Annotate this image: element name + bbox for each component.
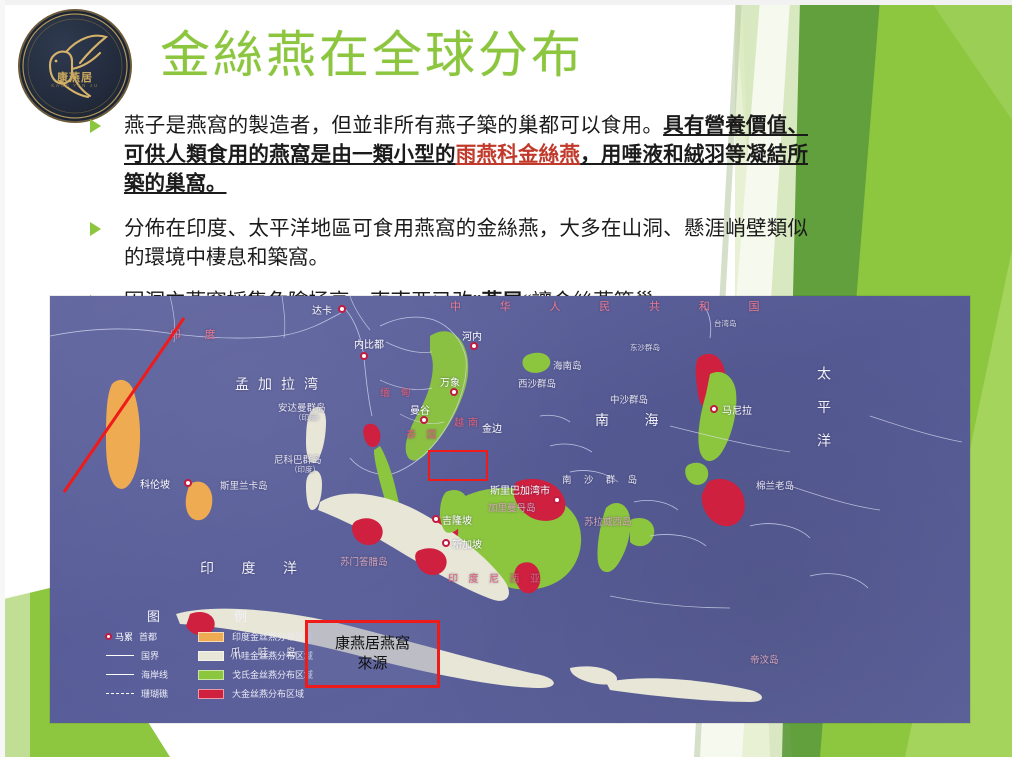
color-swatch-icon: [196, 689, 226, 699]
capital-dot-hanoi: [470, 342, 478, 350]
legend-label-germain-swiftlet: 戈氏金丝燕分布区域: [232, 668, 313, 681]
island-label-kalimantan: 加里曼丹岛: [488, 500, 536, 514]
legend-swatch-column: 印度金丝燕分布区域 爪哇金丝燕分布区域 戈氏金丝燕分布区域 大金丝燕分布区域: [196, 629, 313, 701]
legend-item-coastline: 海岸线: [105, 667, 168, 682]
country-label-india: 印 度: [170, 326, 222, 342]
legend-item-edible-nest-swiftlet: 大金丝燕分布区域: [196, 686, 313, 701]
capital-dot-vientiane: [450, 388, 458, 396]
legend-item-capital: 马累 首都: [105, 629, 168, 644]
slide-border-left: [0, 0, 5, 757]
legend-item-indian-swiftlet: 印度金丝燕分布区域: [196, 629, 313, 644]
ocean-label-bay-of-bengal: 孟加拉湾: [235, 374, 327, 394]
island-label-hainan: 海南岛: [553, 358, 582, 372]
page-title: 金絲燕在全球分布: [160, 28, 584, 83]
color-swatch-icon: [196, 670, 226, 680]
country-label-myanmar: 缅 甸: [380, 384, 415, 399]
solid-line-icon: [105, 674, 135, 675]
legend-item-java-swiftlet: 爪哇金丝燕分布区域: [196, 648, 313, 663]
distribution-map: .land-green { fill:#8cc63e; } .land-red …: [50, 296, 970, 723]
bullet-item-2: 分佈在印度、太平洋地區可食用燕窩的金絲燕，大多在山洞、懸涯峭壁類似的環境中棲息和…: [86, 215, 808, 273]
island-label-zhongsha: 中沙群岛: [610, 392, 648, 406]
city-label-naypyidaw: 内比都: [354, 336, 384, 351]
island-sub-andaman: （印度）: [294, 412, 324, 423]
legend-headings: 图 例: [105, 606, 325, 625]
city-label-vientiane: 万象: [440, 374, 460, 389]
country-label-china: 中 华 人 民 共 和 国: [450, 298, 778, 314]
slide: 康燕居 KANG YAN JU 金絲燕在全球分布 燕子是燕窩的製造者，但並非所有…: [0, 0, 1012, 757]
island-sub-nicobar: （印度）: [290, 464, 320, 475]
bullet-1-seg-3: 雨燕科金絲燕: [456, 144, 580, 166]
ocean-label-south-china-sea: 南 海: [595, 410, 675, 430]
island-label-mindanao: 棉兰老岛: [756, 478, 794, 492]
legend-item-border: 国界: [105, 648, 168, 663]
city-label-bandar-seri-begawan: 斯里巴加湾市: [490, 482, 550, 497]
country-label-thailand: 泰 国: [406, 426, 441, 441]
color-swatch-icon: [196, 632, 226, 642]
triangle-bullet-icon: [90, 119, 101, 133]
triangle-bullet-icon: [90, 222, 101, 236]
bullet-1-seg-1: 燕子是燕窩的製造者，但並非所有燕子築的巢都可以食用。: [124, 115, 663, 137]
solid-line-icon: [105, 655, 135, 656]
legend-label-java-swiftlet: 爪哇金丝燕分布区域: [232, 649, 313, 662]
island-label-sri-lanka: 斯里兰卡岛: [220, 478, 268, 492]
island-label-xisha: 西沙群岛: [518, 376, 556, 390]
capital-dot-icon: 马累: [105, 630, 133, 643]
city-label-singapore: 新加坡: [452, 536, 482, 551]
callout-line-1: 康燕居燕窩: [335, 634, 410, 654]
bullet-item-1: 燕子是燕窩的製造者，但並非所有燕子築的巢都可以食用。具有營養價值、可供人類食用的…: [86, 112, 808, 199]
legend-label-coastline: 海岸线: [141, 668, 168, 681]
city-label-manila: 马尼拉: [722, 402, 752, 417]
legend-label-coral-reef: 珊瑚礁: [141, 687, 168, 700]
highlight-region-box: [428, 450, 488, 481]
legend-label-indian-swiftlet: 印度金丝燕分布区域: [232, 630, 313, 643]
legend-capital-sample: 马累: [115, 630, 133, 643]
map-legend: 图 例 马累 首都 国界 海岸线: [105, 606, 325, 701]
ocean-label-pacific-ocean: 太 平 洋: [812, 366, 832, 455]
capital-dot-manila: [710, 405, 718, 413]
island-label-sulawesi: 苏拉威西岛: [584, 514, 632, 528]
city-label-kuala-lumpur: 吉隆坡: [442, 512, 472, 527]
capital-dot-dhaka: [338, 305, 346, 313]
capital-dot-bandar-seri-begawan: [553, 496, 561, 504]
city-label-hanoi: 河内: [462, 328, 482, 343]
source-callout-box: 康燕居燕窩 來源: [305, 620, 440, 688]
legend-label-edible-nest-swiftlet: 大金丝燕分布区域: [232, 687, 304, 700]
bullet-2-seg-1: 分佈在印度、太平洋地區可食用燕窩的金絲燕，大多在山洞、懸涯峭壁類似的環境中棲息和…: [124, 218, 808, 269]
callout-line-2: 來源: [357, 654, 387, 674]
ocean-label-indian-ocean: 印 度 洋: [200, 558, 309, 578]
color-swatch-icon: [196, 651, 226, 661]
capital-dot-singapore: [442, 539, 450, 547]
country-label-vietnam: 越南: [454, 414, 482, 429]
legend-label-border: 国界: [141, 649, 159, 662]
logo-english-text: KANG YAN JU: [20, 83, 130, 88]
legend-symbol-column: 马累 首都 国界 海岸线 珊瑚礁: [105, 629, 168, 701]
city-label-phnom-penh: 金边: [482, 420, 502, 435]
city-label-dhaka: 达卡: [312, 302, 332, 317]
city-label-colombo: 科伦坡: [140, 476, 170, 491]
city-label-bangkok: 曼谷: [410, 402, 430, 417]
legend-head-right: 例: [234, 606, 249, 625]
slide-border-top: [0, 0, 1012, 5]
island-label-dongsha: 东沙群岛: [630, 342, 660, 353]
legend-label-capital: 首都: [139, 630, 157, 643]
island-label-timor: 帝汶岛: [750, 652, 779, 666]
island-label-sumatra: 苏门答腊岛: [340, 554, 388, 568]
legend-item-germain-swiftlet: 戈氏金丝燕分布区域: [196, 667, 313, 682]
brand-logo: 康燕居 KANG YAN JU: [20, 11, 130, 121]
capital-dot-bangkok: [420, 416, 428, 424]
capital-dot-colombo: [184, 479, 192, 487]
capital-dot-naypyidaw: [360, 352, 368, 360]
country-label-indonesia: 印 度 尼 西 亚: [448, 570, 544, 585]
capital-dot-kuala-lumpur: [432, 515, 440, 523]
legend-head-left: 图: [147, 606, 162, 625]
island-label-nansha: 南 沙 群 岛: [562, 472, 642, 486]
dashed-line-icon: [105, 693, 135, 694]
island-label-taiwan: 台湾岛: [714, 318, 737, 329]
legend-item-coral-reef: 珊瑚礁: [105, 686, 168, 701]
